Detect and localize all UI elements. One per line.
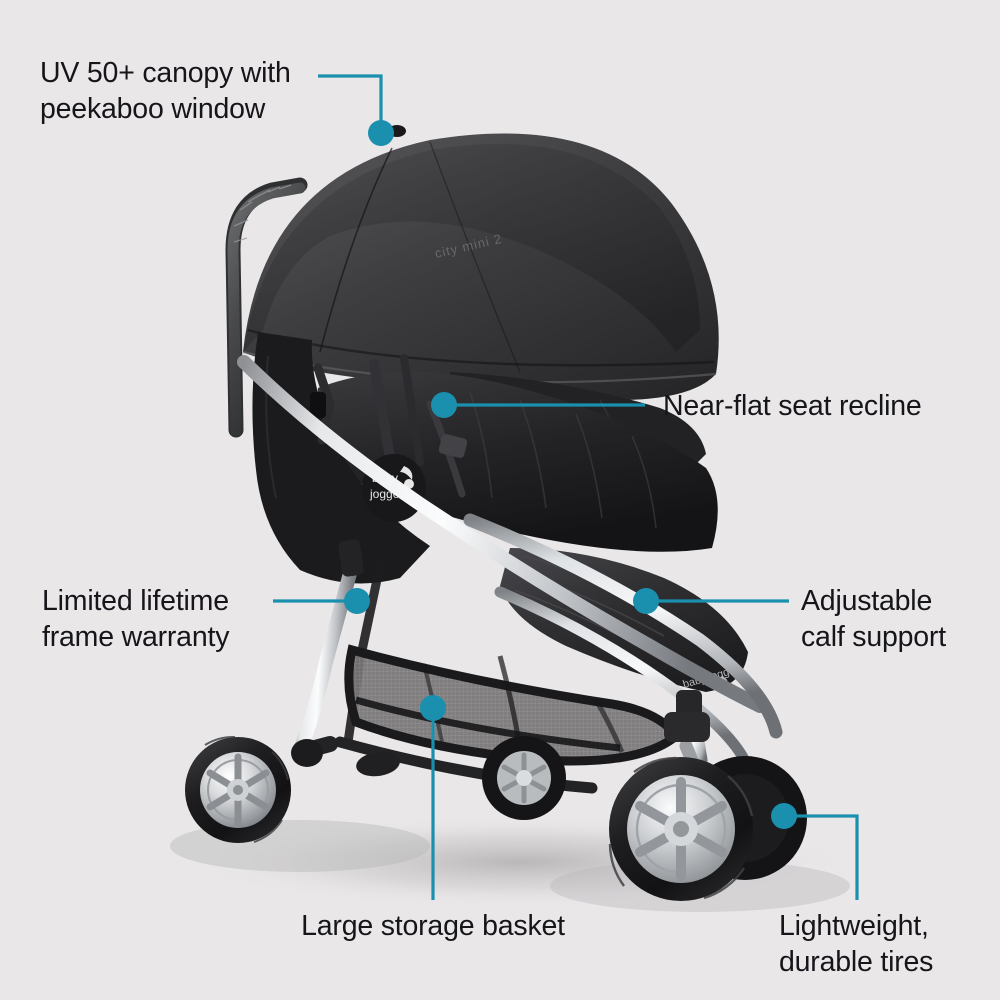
callout-label-tires: Lightweight, durable tires	[779, 908, 999, 980]
inner-rear-wheel	[482, 736, 566, 820]
stroller-product-image: city mini 2	[0, 0, 1000, 1000]
calf-support: baby jogger	[500, 548, 748, 692]
callout-label-recline: Near-flat seat recline	[663, 388, 993, 424]
callout-label-calf: Adjustable calf support	[801, 583, 1000, 655]
canopy: city mini 2	[243, 125, 719, 400]
rear-wheel	[185, 737, 291, 843]
callout-label-canopy: UV 50+ canopy with peekaboo window	[40, 55, 370, 127]
callout-label-basket: Large storage basket	[253, 908, 613, 944]
callout-label-warranty: Limited lifetime frame warranty	[42, 583, 342, 655]
feature-diagram: city mini 2	[0, 0, 1000, 1000]
